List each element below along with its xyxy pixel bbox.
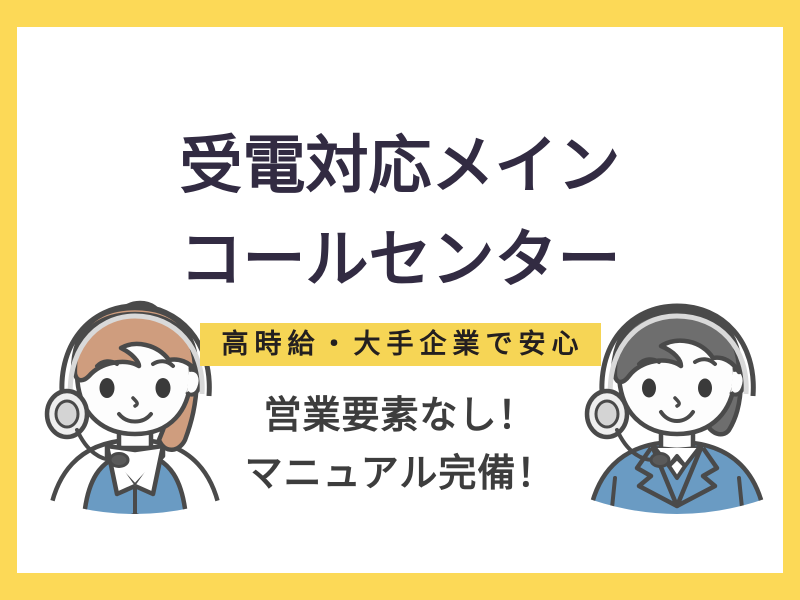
female-ear — [187, 370, 201, 395]
female-eye-right — [156, 378, 171, 398]
male-eye-left — [642, 379, 656, 398]
female-headset-mic — [110, 454, 128, 467]
male-headset-mic — [651, 454, 669, 467]
poster-inner-canvas: 受電対応メイン コールセンター 高時給・大手企業で安心 営業要素なし！ マニュア… — [17, 27, 783, 573]
female-operator-svg — [39, 300, 231, 550]
female-headset-earcup-pad — [56, 401, 78, 427]
male-headset-earcup-pad — [596, 401, 618, 427]
female-vest-button — [128, 515, 142, 529]
illustration-female-operator — [39, 300, 231, 555]
female-eye-left — [100, 378, 115, 398]
poster-title-line-1: 受電対応メイン — [17, 135, 783, 198]
male-operator-svg — [581, 300, 773, 550]
status-badge: 高時給・大手企業で安心 — [200, 323, 601, 366]
illustration-male-operator — [581, 300, 773, 555]
male-eye-right — [698, 379, 712, 398]
poster-title-line-2: コールセンター — [17, 229, 783, 292]
poster-frame: 受電対応メイン コールセンター 高時給・大手企業で安心 営業要素なし！ マニュア… — [0, 0, 800, 600]
